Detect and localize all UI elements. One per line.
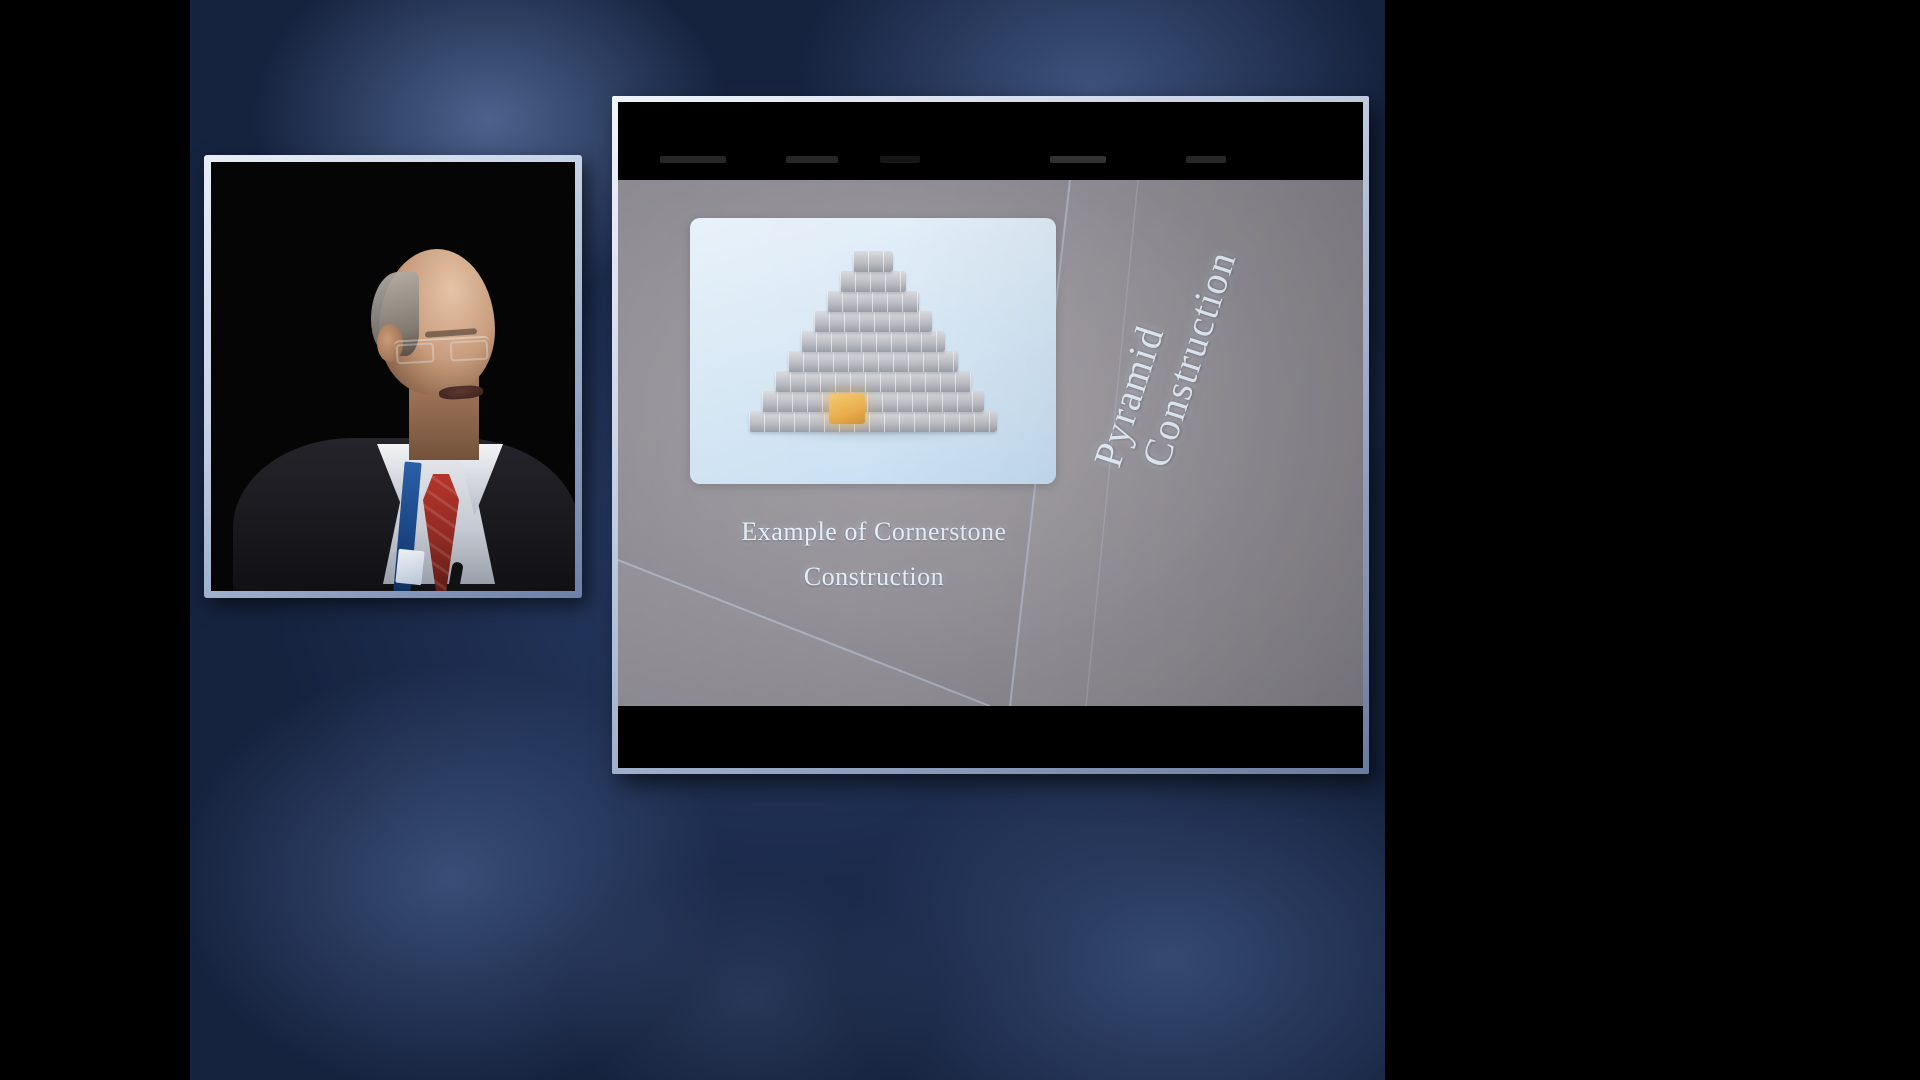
presentation-screen-feed[interactable]: Example of Cornerstone Construction Pyra…: [612, 96, 1369, 774]
pyramid-row: [801, 331, 945, 352]
ceiling-light-icon: [1050, 156, 1106, 163]
ceiling-light-icon: [1186, 156, 1226, 163]
pyramid-row: [762, 391, 984, 412]
slide-caption: Example of Cornerstone Construction: [654, 510, 1094, 599]
golden-cornerstone-block: [829, 394, 865, 424]
ceiling-light-icon: [880, 156, 920, 163]
block-pyramid-illustration: [743, 254, 1003, 450]
pyramid-row: [853, 251, 893, 272]
screenshot-stage: Example of Cornerstone Construction Pyra…: [0, 0, 1920, 1080]
slide-title: Pyramid Construction: [1088, 238, 1338, 668]
ceiling-light-icon: [786, 156, 838, 163]
presentation-video-surface: Example of Cornerstone Construction Pyra…: [618, 102, 1363, 768]
speaker-badge: [395, 549, 424, 586]
projected-slide: Example of Cornerstone Construction Pyra…: [618, 180, 1363, 706]
letterbox-pillar-left: [0, 0, 190, 1080]
pyramid-row: [840, 271, 906, 292]
room-floor-band: [618, 706, 1363, 768]
pyramid-row: [788, 351, 958, 372]
speaker-panel-frame: [204, 155, 582, 598]
slide-title-line-1: Pyramid: [1084, 319, 1174, 472]
presentation-panel-frame: Example of Cornerstone Construction Pyra…: [612, 96, 1369, 774]
slide-caption-line-1: Example of Cornerstone: [654, 510, 1094, 555]
ceiling-light-icon: [660, 156, 726, 163]
slide-picture-block-pyramid: [690, 218, 1056, 484]
speaker-video-surface: [211, 162, 575, 591]
pyramid-row: [749, 411, 997, 432]
pyramid-row: [827, 291, 919, 312]
speaker-eyeglasses: [393, 336, 490, 365]
pyramid-row: [814, 311, 932, 332]
pyramid-row: [775, 371, 971, 392]
letterbox-pillar-right: [1385, 0, 1920, 1080]
slide-title-line-2: Construction: [1132, 245, 1246, 473]
room-ceiling-band: [618, 102, 1363, 180]
speaker-camera-feed[interactable]: [204, 155, 582, 598]
slide-caption-line-2: Construction: [654, 555, 1094, 600]
